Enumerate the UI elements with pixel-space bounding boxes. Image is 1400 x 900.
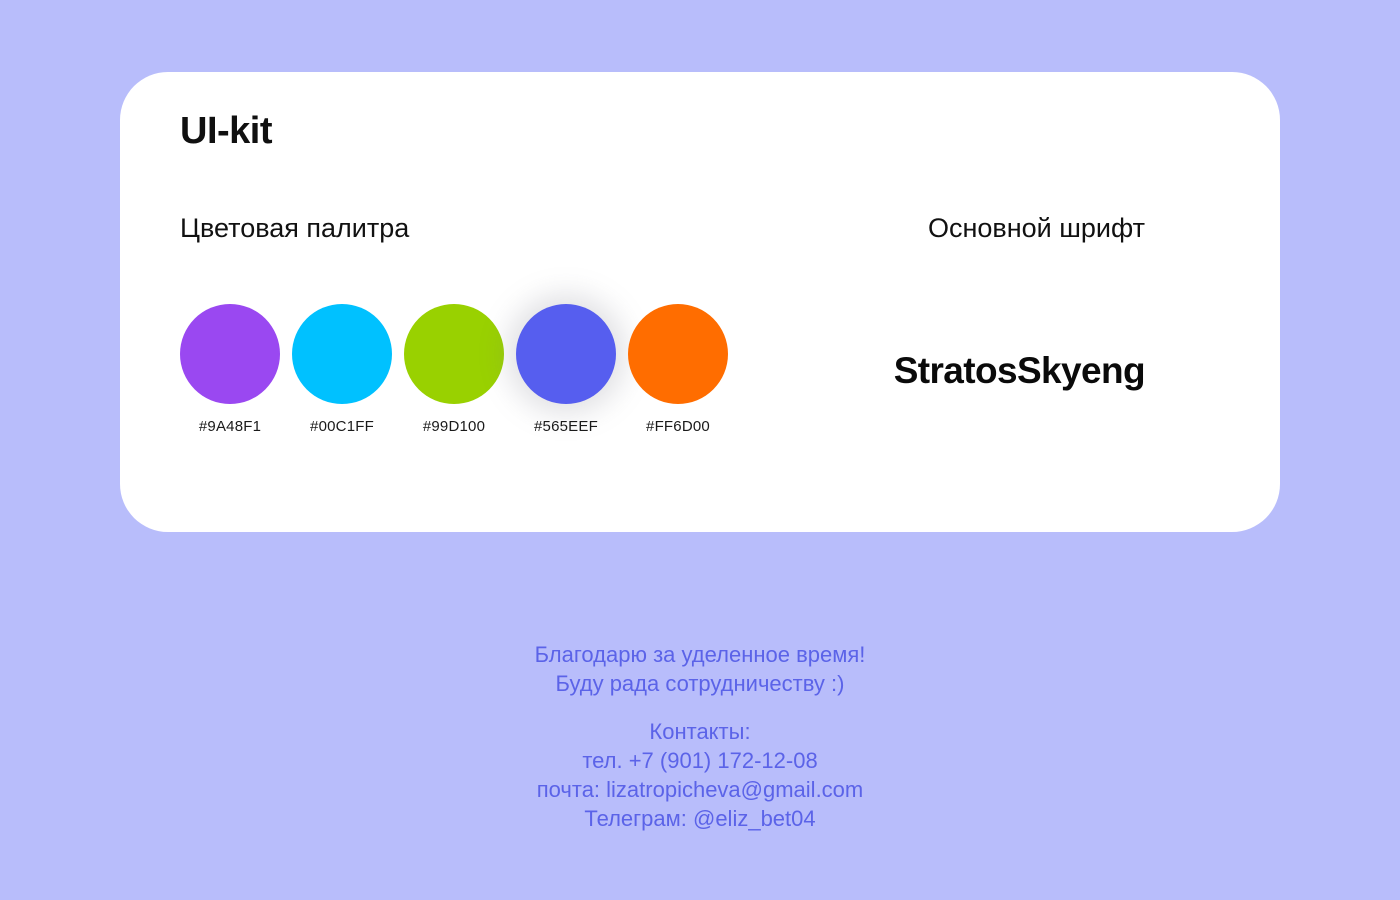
color-swatch[interactable]: #FF6D00 [628, 304, 728, 435]
main-font-section: Основной шрифт [928, 212, 1145, 244]
color-swatch-dot-4[interactable] [516, 304, 616, 404]
color-palette-heading: Цветовая палитра [180, 212, 750, 244]
color-swatch-label-2: #00C1FF [310, 418, 374, 435]
main-font-heading: Основной шрифт [928, 212, 1145, 244]
color-swatch-selected[interactable]: #565EEF [516, 304, 616, 435]
thanks-line-2: Буду рада сотрудничеству :) [0, 669, 1400, 698]
page-title: UI-kit [180, 112, 272, 150]
color-swatch[interactable]: #99D100 [404, 304, 504, 435]
color-swatch-label-3: #99D100 [423, 418, 485, 435]
color-swatch[interactable]: #9A48F1 [180, 304, 280, 435]
contacts-phone[interactable]: тел. +7 (901) 172-12-08 [0, 746, 1400, 775]
thanks-line-1: Благодарю за уделенное время! [0, 640, 1400, 669]
main-font-sample: StratosSkyeng [894, 352, 1145, 389]
thanks-block: Благодарю за уделенное время! Буду рада … [0, 640, 1400, 698]
color-swatch-dot-3[interactable] [404, 304, 504, 404]
color-palette-section: Цветовая палитра [180, 212, 750, 244]
color-swatch-dot-1[interactable] [180, 304, 280, 404]
contacts-title: Контакты: [0, 717, 1400, 746]
color-swatch-label-4: #565EEF [534, 418, 598, 435]
color-swatch-dot-5[interactable] [628, 304, 728, 404]
footer: Благодарю за уделенное время! Буду рада … [0, 640, 1400, 833]
contacts-telegram[interactable]: Телеграм: @eliz_bet04 [0, 804, 1400, 833]
color-swatch-label-5: #FF6D00 [646, 418, 710, 435]
contacts-block: Контакты: тел. +7 (901) 172-12-08 почта:… [0, 717, 1400, 833]
contacts-email[interactable]: почта: lizatropicheva@gmail.com [0, 775, 1400, 804]
color-swatch-list: #9A48F1 #00C1FF #99D100 #565EEF #FF6D00 [180, 304, 728, 435]
color-swatch[interactable]: #00C1FF [292, 304, 392, 435]
ui-kit-card: UI-kit Цветовая палитра #9A48F1 #00C1FF … [120, 72, 1280, 532]
color-swatch-label-1: #9A48F1 [199, 418, 261, 435]
color-swatch-dot-2[interactable] [292, 304, 392, 404]
